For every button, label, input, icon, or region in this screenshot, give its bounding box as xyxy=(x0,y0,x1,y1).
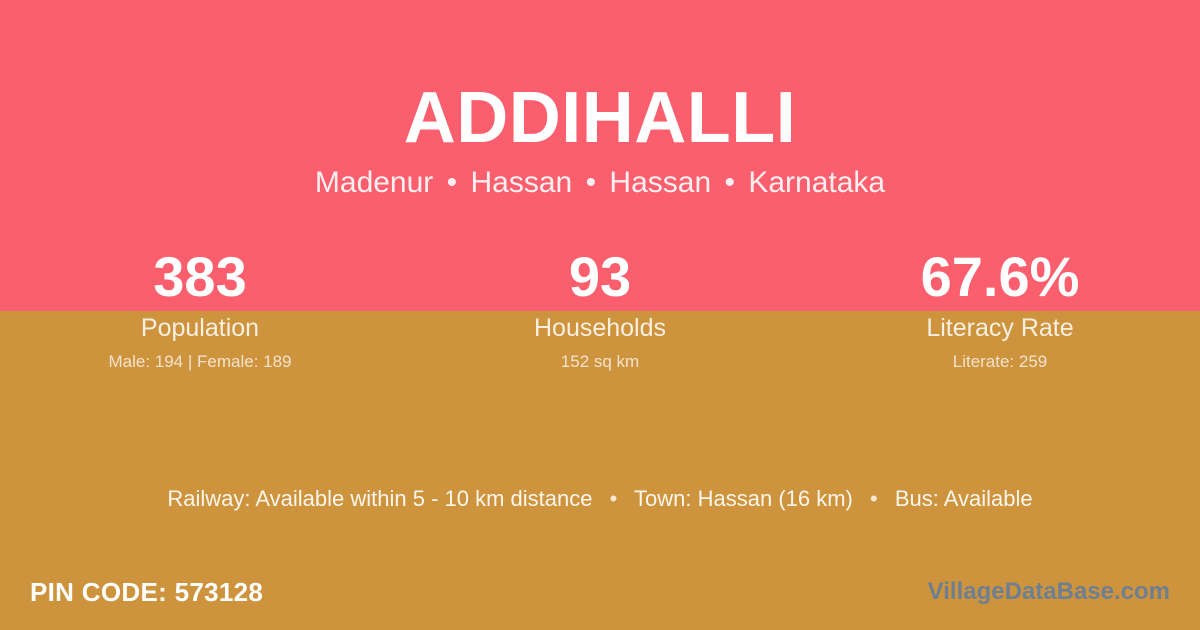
stat-label-population: Population xyxy=(0,313,400,343)
village-info-card: ADDIHALLI Madenur • Hassan • Hassan • Ka… xyxy=(0,0,1200,630)
transit-item-railway: Railway: Available within 5 - 10 km dist… xyxy=(167,486,592,511)
stat-detail-literacy-rate: Literate: 259 xyxy=(800,351,1200,373)
stat-literacy-rate: 67.6% Literacy Rate Literate: 259 xyxy=(800,246,1200,373)
breadcrumb-separator: • xyxy=(719,166,740,199)
pin-code: PIN CODE: 573128 xyxy=(30,575,263,609)
transit-item-town: Town: Hassan (16 km) xyxy=(634,486,853,511)
stat-value-households: 93 xyxy=(400,246,800,308)
breadcrumb-item-state: Karnataka xyxy=(748,166,885,199)
page-title: ADDIHALLI xyxy=(0,78,1200,158)
breadcrumb-item-block: Hassan xyxy=(471,166,573,199)
breadcrumb-separator: • xyxy=(442,166,463,199)
stats-row: 383 Population Male: 194 | Female: 189 9… xyxy=(0,246,1200,373)
transit-separator: • xyxy=(599,486,629,511)
stat-population: 383 Population Male: 194 | Female: 189 xyxy=(0,246,400,373)
transit-separator: • xyxy=(859,486,889,511)
stat-label-households: Households xyxy=(400,313,800,343)
transit-info: Railway: Available within 5 - 10 km dist… xyxy=(0,484,1200,514)
stat-value-population: 383 xyxy=(0,246,400,308)
breadcrumb: Madenur • Hassan • Hassan • Karnataka xyxy=(0,164,1200,202)
site-watermark: VillageDataBase.com xyxy=(928,576,1170,608)
stat-households: 93 Households 152 sq km xyxy=(400,246,800,373)
breadcrumb-item-district: Hassan xyxy=(609,166,711,199)
breadcrumb-item-subdistrict: Madenur xyxy=(315,166,433,199)
stat-detail-households: 152 sq km xyxy=(400,351,800,373)
title-block: ADDIHALLI Madenur • Hassan • Hassan • Ka… xyxy=(0,78,1200,202)
stat-detail-population: Male: 194 | Female: 189 xyxy=(0,351,400,373)
stat-value-literacy-rate: 67.6% xyxy=(800,246,1200,308)
stat-label-literacy-rate: Literacy Rate xyxy=(800,313,1200,343)
breadcrumb-separator: • xyxy=(581,166,602,199)
footer: PIN CODE: 573128 VillageDataBase.com xyxy=(0,572,1200,612)
transit-item-bus: Bus: Available xyxy=(895,486,1033,511)
